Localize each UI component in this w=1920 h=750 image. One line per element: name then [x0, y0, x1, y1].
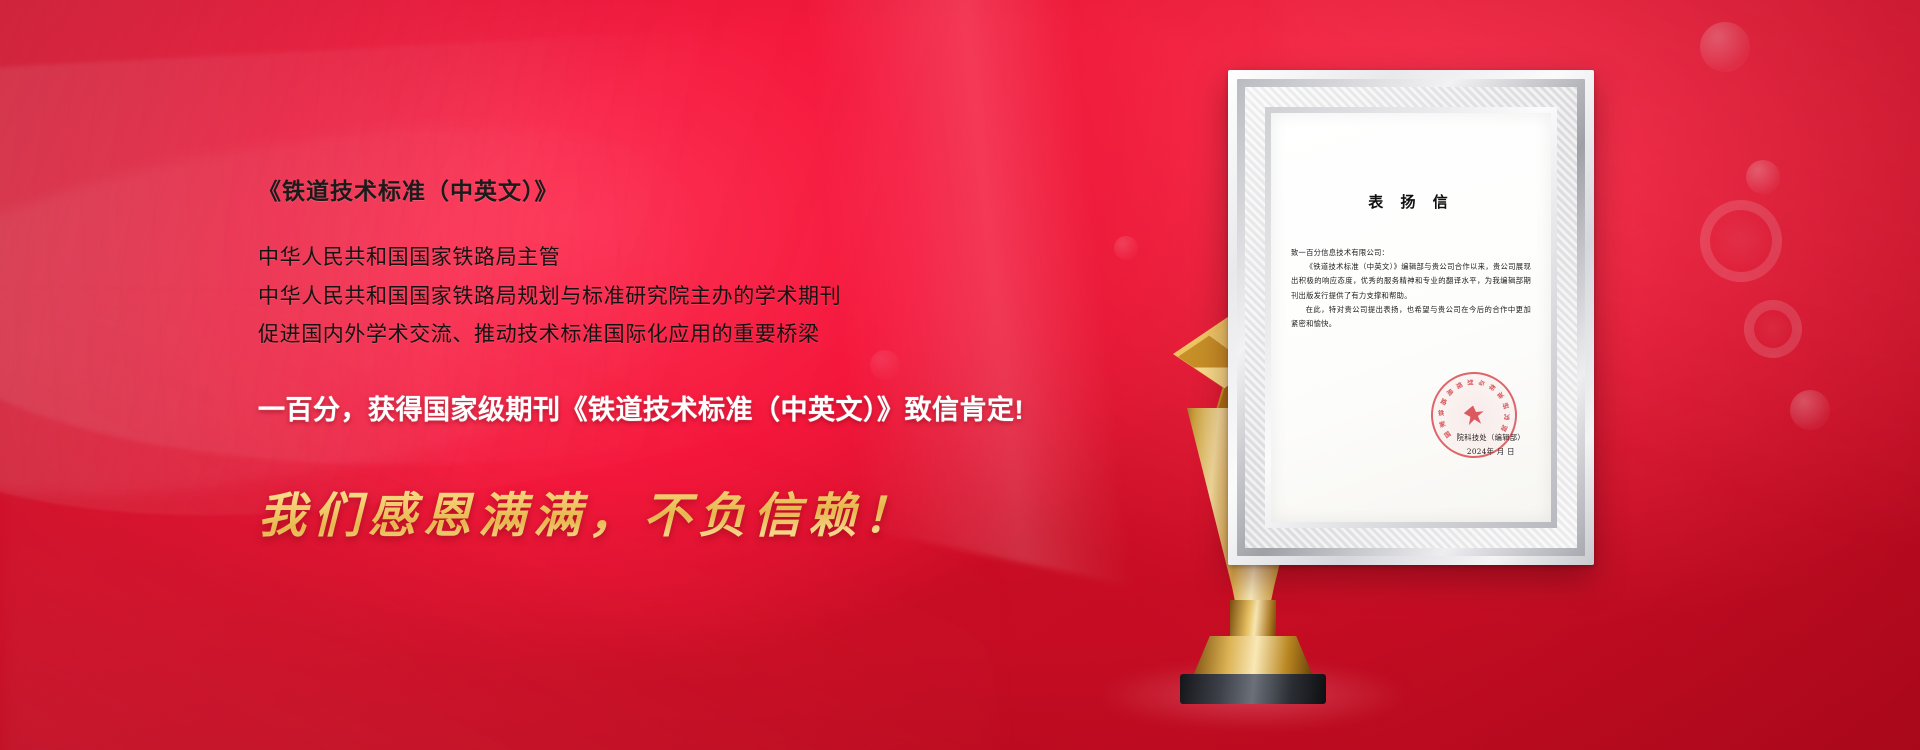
certificate-paper: 表 扬 信 致一百分信息技术有限公司： 《铁道技术标准（中英文）》编辑部与贵公司… — [1271, 113, 1551, 522]
description-line-2: 中华人民共和国国家铁路局规划与标准研究院主办的学术期刊 — [258, 278, 1218, 317]
certificate-title: 表 扬 信 — [1271, 191, 1551, 212]
bokeh-circle — [1790, 390, 1830, 430]
bokeh-circle — [1700, 200, 1782, 282]
trophy-base-dark — [1180, 674, 1326, 704]
bokeh-circle — [1700, 22, 1750, 72]
certificate-salutation: 致一百分信息技术有限公司： — [1291, 246, 1531, 260]
calligraphy-slogan: 我们感恩满满，不负信赖！ — [258, 476, 1218, 546]
framed-certificate: 表 扬 信 致一百分信息技术有限公司： 《铁道技术标准（中英文）》编辑部与贵公司… — [1228, 70, 1594, 565]
certificate-body: 致一百分信息技术有限公司： 《铁道技术标准（中英文）》编辑部与贵公司合作以来，贵… — [1291, 246, 1531, 331]
certificate-paragraph-1: 《铁道技术标准（中英文）》编辑部与贵公司合作以来，贵公司展现出积极的响应态度，优… — [1291, 260, 1531, 303]
bokeh-circle — [1744, 300, 1802, 358]
promotional-banner: 《铁道技术标准（中英文）》 中华人民共和国国家铁路局主管 中华人民共和国国家铁路… — [0, 0, 1920, 750]
certificate-frame: 表 扬 信 致一百分信息技术有限公司： 《铁道技术标准（中英文）》编辑部与贵公司… — [1228, 70, 1594, 565]
left-text-block: 《铁道技术标准（中英文）》 中华人民共和国国家铁路局主管 中华人民共和国国家铁路… — [258, 175, 1218, 546]
certificate-paragraph-2: 在此，特对贵公司提出表扬，也希望与贵公司在今后的合作中更加紧密和愉快。 — [1291, 303, 1531, 331]
seal-text: 国家铁路局规划与标准研究院 — [1429, 370, 1519, 460]
description-line-3: 促进国内外学术交流、推动技术标准国际化应用的重要桥梁 — [258, 316, 1218, 355]
official-seal-icon: 国家铁路局规划与标准研究院 — [1427, 368, 1522, 463]
journal-title: 《铁道技术标准（中英文）》 — [258, 175, 1218, 207]
headline-text: 一百分，获得国家级期刊《铁道技术标准（中英文）》致信肯定! — [258, 393, 1218, 428]
trophy-base-gold — [1193, 636, 1313, 676]
description-line-1: 中华人民共和国国家铁路局主管 — [258, 239, 1218, 278]
bokeh-circle — [1746, 160, 1780, 194]
trophy-neck — [1230, 600, 1276, 640]
description-block: 中华人民共和国国家铁路局主管 中华人民共和国国家铁路局规划与标准研究院主办的学术… — [258, 239, 1218, 355]
